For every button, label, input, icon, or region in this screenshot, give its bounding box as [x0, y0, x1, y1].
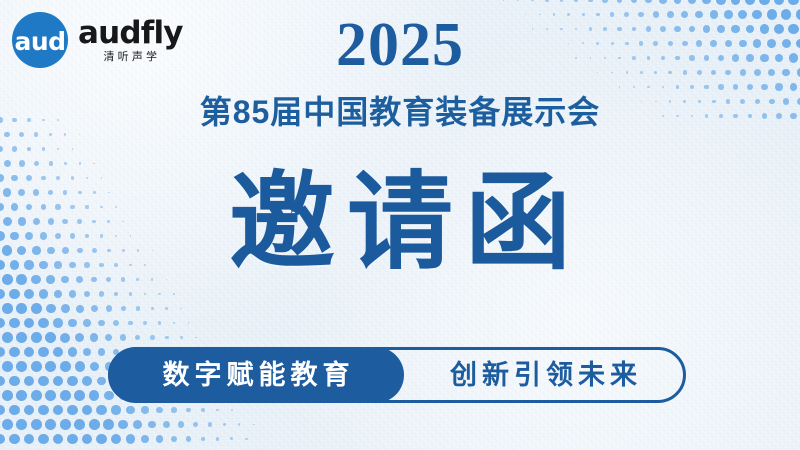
invitation-poster: aud audfly 清听声学 2025 第85届中国教育装备展示会 邀请函 数… [0, 0, 800, 450]
slogan-primary-label: 数字赋能教育 [158, 362, 355, 389]
slogan-secondary-label: 创新引领未来 [445, 362, 642, 389]
headline-group: 2025 第85届中国教育装备展示会 邀请函 [0, 14, 800, 276]
year-label: 2025 [0, 14, 800, 76]
slogan-secondary-segment: 创新引领未来 [404, 350, 683, 400]
page-title: 邀请函 [0, 170, 800, 276]
slogan-primary-segment: 数字赋能教育 [108, 347, 404, 403]
expo-name-label: 第85届中国教育装备展示会 [0, 96, 800, 128]
slogan-banner: 数字赋能教育 创新引领未来 [108, 347, 686, 403]
